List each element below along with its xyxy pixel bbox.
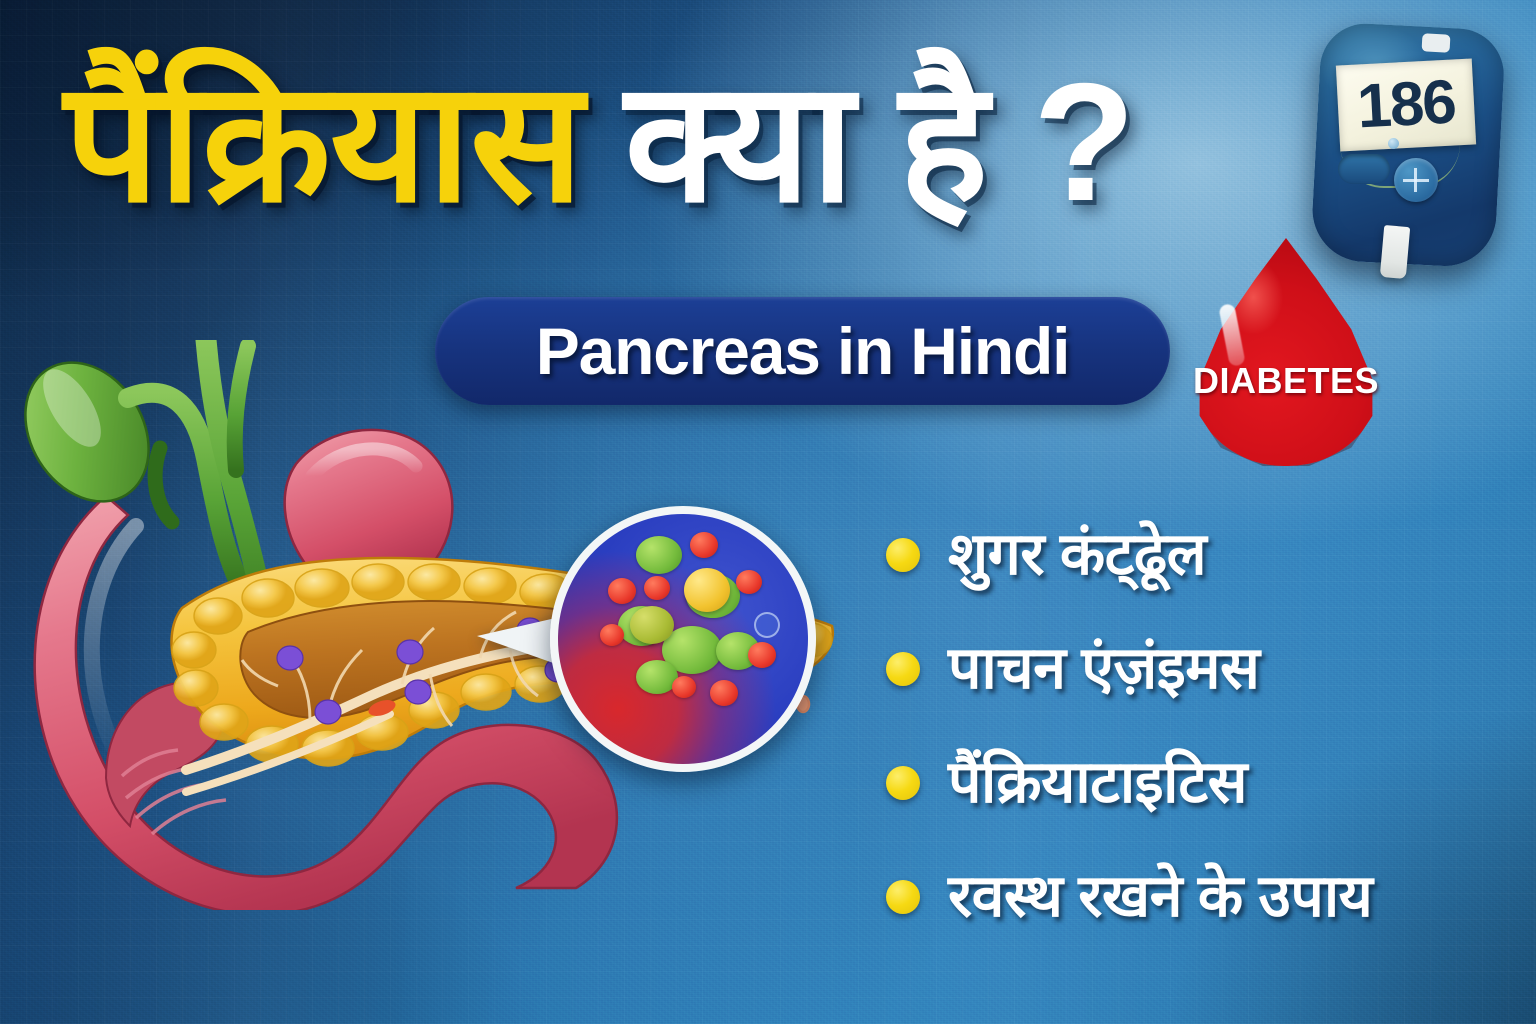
hepatic-duct (235, 346, 248, 470)
list-item: पाचन एंज़ंइमस (886, 612, 1516, 726)
vesicle-outline (754, 612, 780, 638)
red-blood-cell (644, 576, 670, 600)
glucometer-power-button-icon (1394, 158, 1438, 202)
glucometer-top-tab (1422, 33, 1451, 52)
list-item-label: पाचन एंज़ंइमस (948, 638, 1259, 700)
bullet-dot-icon (886, 652, 920, 686)
red-blood-cell (672, 676, 696, 698)
glucometer-logo-panel (1338, 154, 1390, 184)
islet-cell-magnification-inset (550, 506, 816, 772)
islet-sphere-yellow (684, 568, 730, 612)
red-blood-cell (736, 570, 762, 594)
bullet-dot-icon (886, 538, 920, 572)
duct-branch (155, 448, 172, 522)
glucometer-screen: 186 (1336, 59, 1476, 152)
islet-sphere-olive (630, 606, 674, 644)
red-blood-cell (608, 578, 636, 604)
bullet-dot-icon (886, 880, 920, 914)
red-blood-cell (600, 624, 624, 646)
glucose-reading-value: 186 (1356, 71, 1457, 138)
list-item: पैंक्रियाटाइटिस (886, 726, 1516, 840)
title-question-text: क्या है ? (624, 58, 1134, 226)
page-title: पैंक्रियास क्या है ? (64, 58, 1304, 278)
blood-drop-graphic: DIABETES (1190, 238, 1382, 466)
list-item: रवस्थ रखने के उपाय (886, 840, 1516, 954)
list-item-label: शुगर कंट्ढूेल (948, 524, 1206, 586)
red-blood-cell (690, 532, 718, 558)
title-highlight-text: पैंक्रियास (64, 58, 582, 226)
glucometer-device: 186 (1316, 26, 1500, 264)
glucometer-test-strip (1380, 225, 1410, 279)
list-item-label: रवस्थ रखने के उपाय (948, 866, 1372, 928)
red-blood-cell (748, 642, 776, 668)
cell-cluster-green (636, 536, 682, 574)
list-item-label: पैंक्रियाटाइटिस (948, 752, 1247, 814)
bullet-dot-icon (886, 766, 920, 800)
glucometer-indicator-light (1388, 138, 1399, 149)
infographic-poster: पैंक्रियास क्या है ? Pancreas in Hindi 1… (0, 0, 1536, 1024)
red-blood-cell (710, 680, 738, 706)
list-item: शुगर कंट्ढूेल (886, 498, 1516, 612)
key-points-list: शुगर कंट्ढूेल पाचन एंज़ंइमस पैंक्रियाटाइ… (886, 498, 1516, 954)
diabetes-label: DIABETES (1190, 360, 1382, 402)
blood-drop-icon (1190, 238, 1382, 466)
